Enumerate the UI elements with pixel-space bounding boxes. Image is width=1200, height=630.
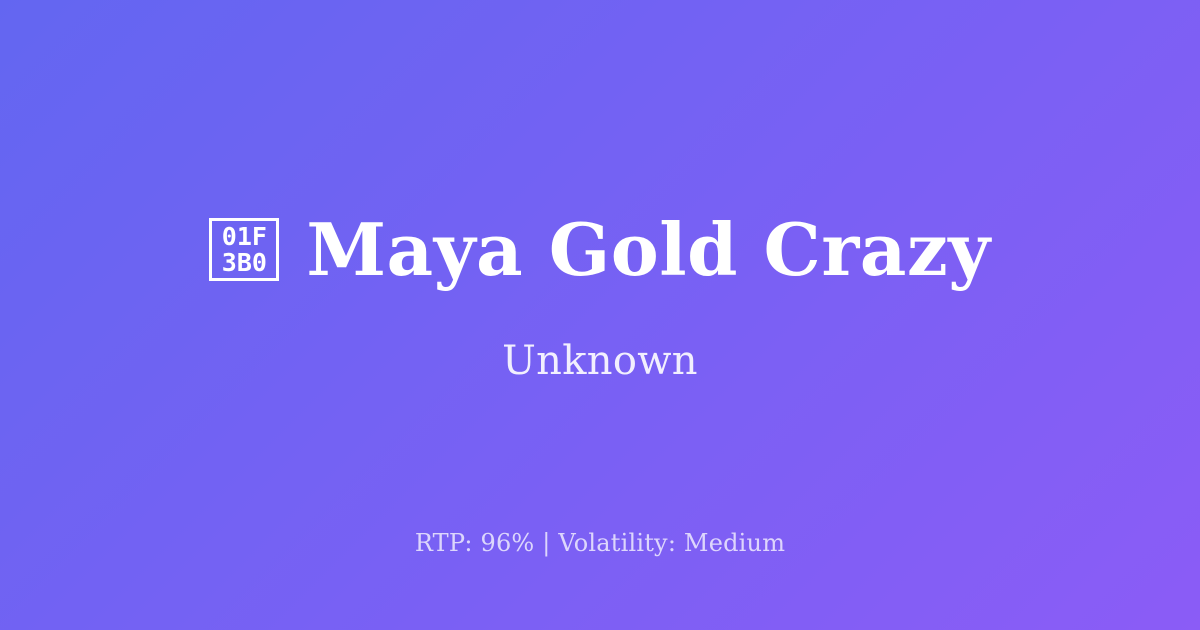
page-title: Maya Gold Crazy bbox=[306, 214, 990, 286]
title-row: 01F 3B0 Maya Gold Crazy bbox=[209, 214, 990, 286]
hero-block: 01F 3B0 Maya Gold Crazy Unknown bbox=[0, 214, 1200, 381]
game-share-card: 01F 3B0 Maya Gold Crazy Unknown RTP: 96%… bbox=[0, 0, 1200, 630]
tofu-codepoint-line-1: 01F bbox=[222, 224, 267, 250]
game-provider-subtitle: Unknown bbox=[502, 341, 698, 381]
tofu-codepoint-line-2: 3B0 bbox=[222, 250, 267, 276]
game-stats-line: RTP: 96% | Volatility: Medium bbox=[0, 529, 1200, 557]
slot-machine-icon: 01F 3B0 bbox=[209, 218, 279, 281]
